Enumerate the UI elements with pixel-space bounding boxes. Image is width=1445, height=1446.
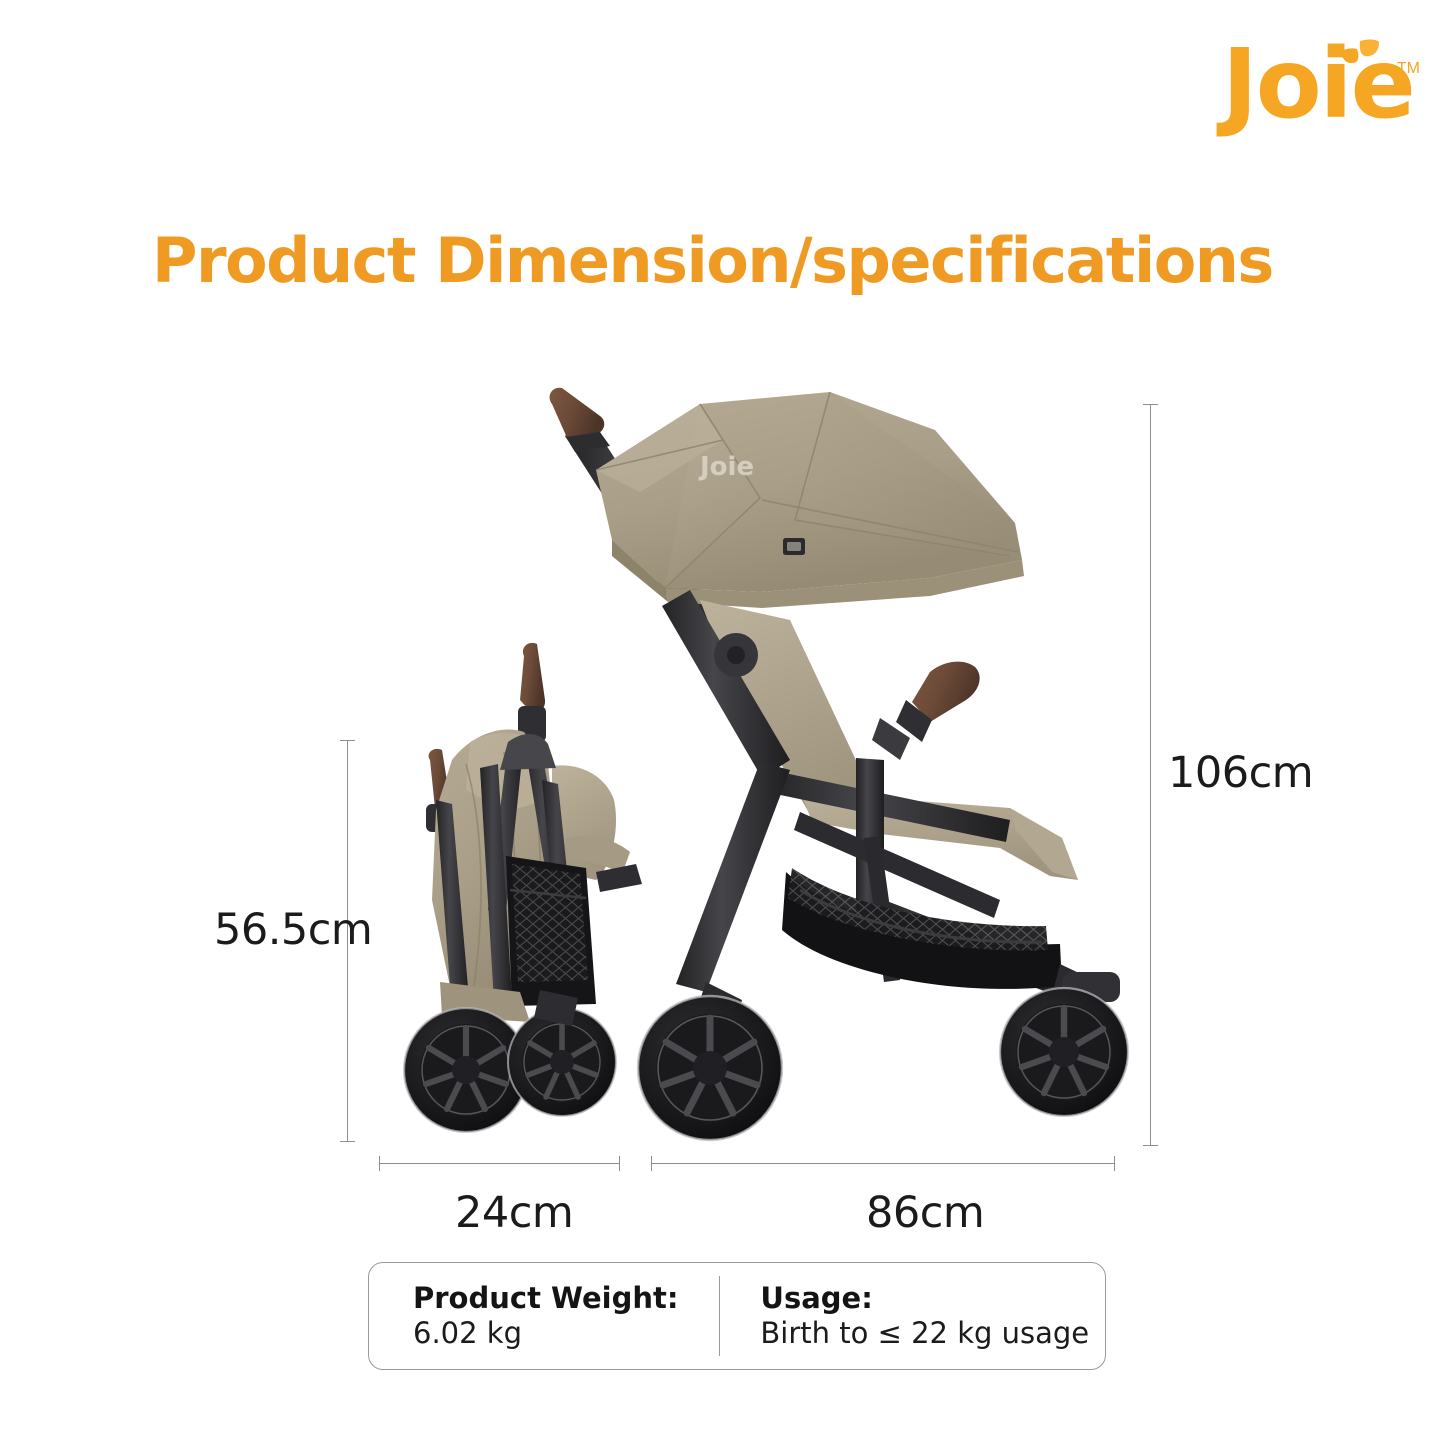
dimension-label-folded-length: 24cm — [455, 1188, 573, 1238]
brand-name: Joie — [1222, 36, 1414, 132]
folded-stroller-illustration — [404, 643, 642, 1132]
rear-wheel-folded — [508, 1008, 616, 1116]
product-specification-page: Joie TM Product Dimension/specifications — [0, 0, 1445, 1446]
dimension-line-open-height — [1150, 404, 1151, 1146]
front-wheel-open — [638, 996, 782, 1140]
usage-label: Usage: — [760, 1281, 1105, 1316]
spec-product-weight: Product Weight: 6.02 kg — [369, 1263, 719, 1369]
dimension-label-open-height: 106cm — [1168, 748, 1313, 798]
product-weight-label: Product Weight: — [413, 1281, 719, 1316]
product-weight-value: 6.02 kg — [413, 1316, 719, 1351]
canopy-badge — [783, 538, 805, 555]
spec-usage: Usage: Birth to ≤ 22 kg usage — [720, 1263, 1105, 1369]
specifications-box: Product Weight: 6.02 kg Usage: Birth to … — [368, 1262, 1106, 1370]
canopy-brand-text: Joie — [698, 452, 754, 482]
dimension-line-open-length — [651, 1163, 1115, 1164]
dimension-label-folded-height: 56.5cm — [214, 905, 372, 955]
dimension-line-folded-length — [379, 1163, 620, 1164]
page-title: Product Dimension/specifications — [152, 224, 1352, 297]
product-illustration: Joie — [0, 0, 1445, 1446]
open-stroller-illustration: Joie — [550, 388, 1128, 1140]
front-wheel-folded — [404, 1008, 528, 1132]
leaf-icon — [1340, 38, 1380, 72]
dimension-label-open-length: 86cm — [866, 1188, 984, 1238]
usage-value: Birth to ≤ 22 kg usage — [760, 1316, 1105, 1351]
storage-basket — [782, 872, 1062, 989]
rear-wheel-open — [1000, 988, 1128, 1116]
bumper-bar — [912, 662, 980, 722]
joie-logo: Joie TM — [1222, 30, 1422, 140]
trademark-symbol: TM — [1397, 60, 1420, 78]
